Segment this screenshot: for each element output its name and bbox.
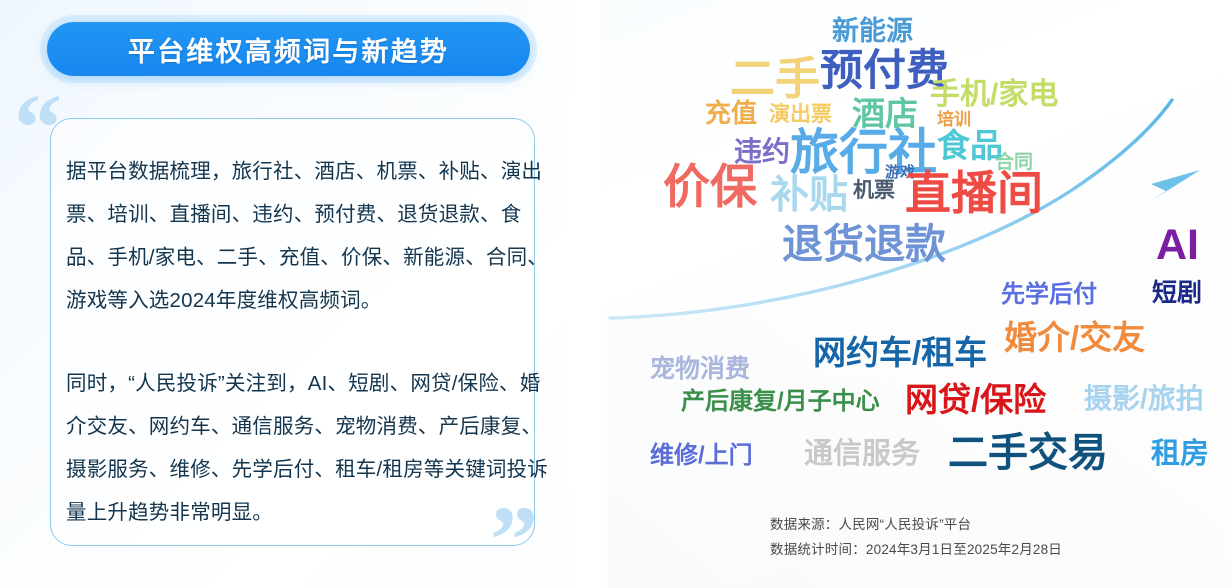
word-cloud-term: 通信服务 [804,440,920,469]
word-cloud-term: 宠物消费 [650,357,750,382]
body-text-block: 据平台数据梳理，旅行社、酒店、机票、补贴、演出票、培训、直播间、违约、预付费、退… [66,150,548,534]
word-cloud-term: AI [1156,224,1199,267]
word-cloud-term: 租房 [1151,440,1209,469]
word-cloud-term: 演出票 [769,104,832,125]
data-source-line: 数据来源：人民网“人民投诉”平台 [770,512,1062,537]
word-cloud-term: 补贴 [770,176,848,215]
word-cloud-term: 手机/家电 [930,80,1058,110]
word-cloud-term: 充值 [705,100,757,126]
data-period-line: 数据统计时间：2024年3月1日至2025年2月28日 [770,537,1062,562]
word-cloud-term: 先学后付 [1001,283,1097,307]
footer-note: 数据来源：人民网“人民投诉”平台 数据统计时间：2024年3月1日至2025年2… [770,512,1062,562]
word-cloud-term: 短剧 [1152,281,1202,306]
word-cloud-term: 摄影/旅拍 [1084,385,1204,413]
word-cloud-term: 退货退款 [782,224,946,265]
word-cloud-term: 维修/上门 [650,444,753,468]
word-cloud: 新能源二手预付费手机/家电充值演出票酒店培训食品合同违约旅行社游戏价保补贴机票直… [600,0,1231,588]
word-cloud-term: 食品 [937,129,1003,162]
word-cloud-term: 网贷/保险 [905,383,1046,416]
infographic-canvas: 平台维权高频词与新趋势 “ 据平台数据梳理，旅行社、酒店、机票、补贴、演出票、培… [0,0,1231,588]
page-title: 平台维权高频词与新趋势 [128,30,449,69]
word-cloud-term: 培训 [937,111,971,128]
body-paragraph-1: 据平台数据梳理，旅行社、酒店、机票、补贴、演出票、培训、直播间、违约、预付费、退… [66,150,548,322]
word-cloud-term: 机票 [853,180,895,201]
word-cloud-term: 价保 [663,163,757,210]
word-cloud-term: 网约车/租车 [813,336,987,369]
word-cloud-term: 新能源 [832,18,913,45]
body-paragraph-2: 同时，“人民投诉”关注到，AI、短剧、网贷/保险、婚介交友、网约车、通信服务、宠… [66,362,548,534]
word-cloud-term: 直播间 [905,170,1043,216]
quote-open-icon: “ [14,93,62,162]
word-cloud-term: 二手交易 [948,433,1108,473]
page-title-banner: 平台维权高频词与新趋势 [47,22,530,76]
word-cloud-term: 二手 [730,56,820,101]
word-cloud-term: 产后康复/月子中心 [681,390,880,414]
word-cloud-term: 婚介/交友 [1004,321,1145,354]
